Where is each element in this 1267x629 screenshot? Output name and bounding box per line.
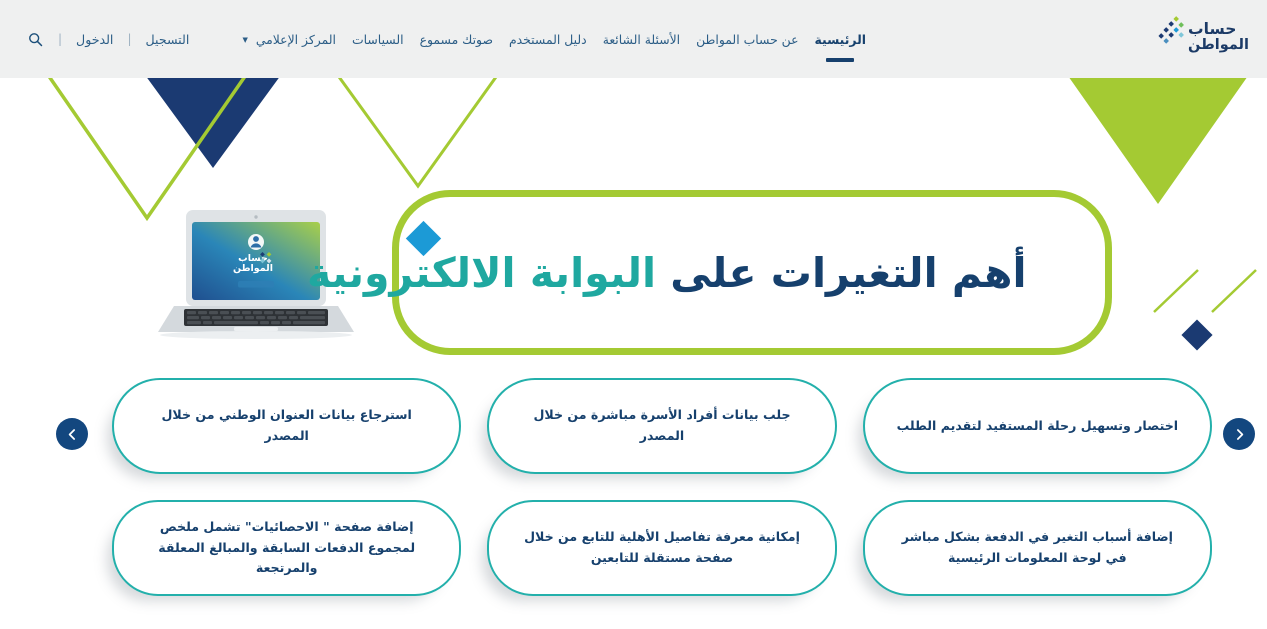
nav-item-faq[interactable]: الأسئلة الشائعة: [602, 28, 681, 51]
carousel-next-button[interactable]: [1223, 418, 1255, 450]
nav-item-user-guide[interactable]: دليل المستخدم: [508, 28, 588, 51]
chevron-down-icon: ▼: [242, 36, 247, 44]
decoration-lime-chevron-small: [330, 78, 505, 196]
nav-label: صوتك مسموع: [420, 32, 493, 47]
nav-item-your-voice[interactable]: صوتك مسموع: [419, 28, 494, 51]
decoration-lime-chevron-large: [42, 78, 252, 228]
nav-label: الرئيسية: [815, 32, 867, 47]
nav-item-policies[interactable]: السياسات: [351, 28, 405, 51]
logo-diamond-pattern-icon: [1157, 17, 1183, 43]
hero-title-accent: البوابة الالكترونية: [307, 249, 656, 297]
features-carousel: اختصار وتسهيل رحلة المستفيد لتقديم الطلب…: [0, 378, 1267, 629]
feature-card[interactable]: إمكانية معرفة تفاصيل الأهلية للتابع من خ…: [487, 500, 836, 596]
nav-label: دليل المستخدم: [509, 32, 587, 47]
separator-1: |: [127, 32, 131, 46]
feature-card-text: استرجاع بيانات العنوان الوطني من خلال ال…: [140, 405, 433, 447]
feature-card-text: إضافة صفحة " الاحصائيات" تشمل ملخص لمجمو…: [140, 517, 433, 579]
nav-label: المركز الإعلامي: [256, 32, 336, 47]
hero-title-main: أهم التغيرات على: [656, 249, 1027, 297]
main-navigation: الرئيسية عن حساب المواطن الأسئلة الشائعة…: [241, 0, 867, 78]
nav-label: السياسات: [352, 32, 404, 47]
feature-card[interactable]: اختصار وتسهيل رحلة المستفيد لتقديم الطلب: [863, 378, 1212, 474]
feature-card-grid: اختصار وتسهيل رحلة المستفيد لتقديم الطلب…: [112, 378, 1212, 596]
nav-item-about[interactable]: عن حساب المواطن: [695, 28, 799, 51]
chevron-left-icon: [66, 428, 79, 441]
site-logo[interactable]: حساب المواطن: [1155, 6, 1251, 68]
chevron-right-icon: [1233, 428, 1246, 441]
separator-2: |: [58, 32, 62, 46]
register-link[interactable]: التسجيل: [131, 32, 203, 47]
logo-wordmark: حساب المواطن: [1188, 22, 1249, 53]
feature-card-text: إضافة أسباب التغير في الدفعة بشكل مباشر …: [891, 527, 1184, 569]
page-title: أهم التغيرات على البوابة الالكترونية: [307, 250, 1067, 297]
feature-card[interactable]: إضافة صفحة " الاحصائيات" تشمل ملخص لمجمو…: [112, 500, 461, 596]
svg-text:المواطن: المواطن: [233, 263, 273, 274]
logo-line-2: المواطن: [1188, 38, 1249, 53]
nav-item-media-center[interactable]: المركز الإعلامي ▼: [241, 28, 337, 51]
carousel-prev-button[interactable]: [56, 418, 88, 450]
search-icon[interactable]: [22, 26, 48, 52]
feature-card[interactable]: استرجاع بيانات العنوان الوطني من خلال ال…: [112, 378, 461, 474]
feature-card[interactable]: جلب بيانات أفراد الأسرة مباشرة من خلال ا…: [487, 378, 836, 474]
feature-card-text: اختصار وتسهيل رحلة المستفيد لتقديم الطلب: [897, 416, 1179, 437]
feature-card[interactable]: إضافة أسباب التغير في الدفعة بشكل مباشر …: [863, 500, 1212, 596]
header-utility-links: التسجيل | الدخول |: [0, 0, 203, 78]
login-link[interactable]: الدخول: [62, 32, 127, 47]
decoration-navy-diamond: [1181, 319, 1212, 350]
feature-card-text: جلب بيانات أفراد الأسرة مباشرة من خلال ا…: [515, 405, 808, 447]
logo-line-1: حساب: [1188, 22, 1236, 38]
decoration-navy-triangle: [118, 78, 308, 168]
feature-card-text: إمكانية معرفة تفاصيل الأهلية للتابع من خ…: [515, 527, 808, 569]
hero-banner: حساب المواطن: [0, 78, 1267, 378]
site-header: حساب المواطن الرئيسية عن حساب المواطن ال…: [0, 0, 1267, 78]
nav-label: عن حساب المواطن: [696, 32, 798, 47]
nav-label: الأسئلة الشائعة: [603, 32, 680, 47]
page-root: حساب المواطن الرئيسية عن حساب المواطن ال…: [0, 0, 1267, 629]
decoration-lime-triangle: [1040, 78, 1267, 204]
decoration-lime-chevron-right: [1150, 266, 1260, 316]
nav-item-home[interactable]: الرئيسية: [814, 28, 868, 51]
